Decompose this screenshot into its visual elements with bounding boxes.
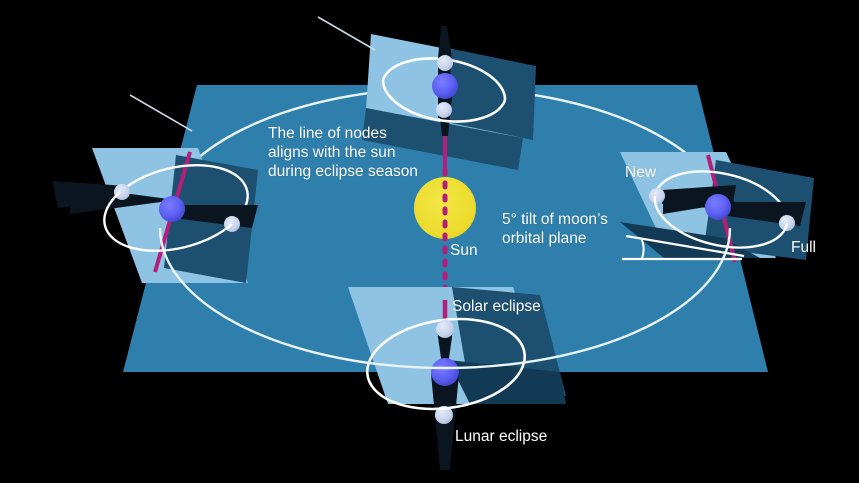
moon-right-new xyxy=(649,188,665,204)
moon-top-full xyxy=(436,102,452,118)
earth-left xyxy=(159,196,185,222)
earth-bottom xyxy=(431,358,459,386)
diagram-canvas xyxy=(0,0,859,483)
moon-bottom-new xyxy=(436,320,454,338)
earth-right xyxy=(705,194,731,220)
moon-top-new xyxy=(437,55,453,71)
moon-left-new xyxy=(114,184,130,200)
earth-top xyxy=(432,73,458,99)
eclipse-season-diagram: The line of nodes aligns with the sun du… xyxy=(0,0,859,483)
